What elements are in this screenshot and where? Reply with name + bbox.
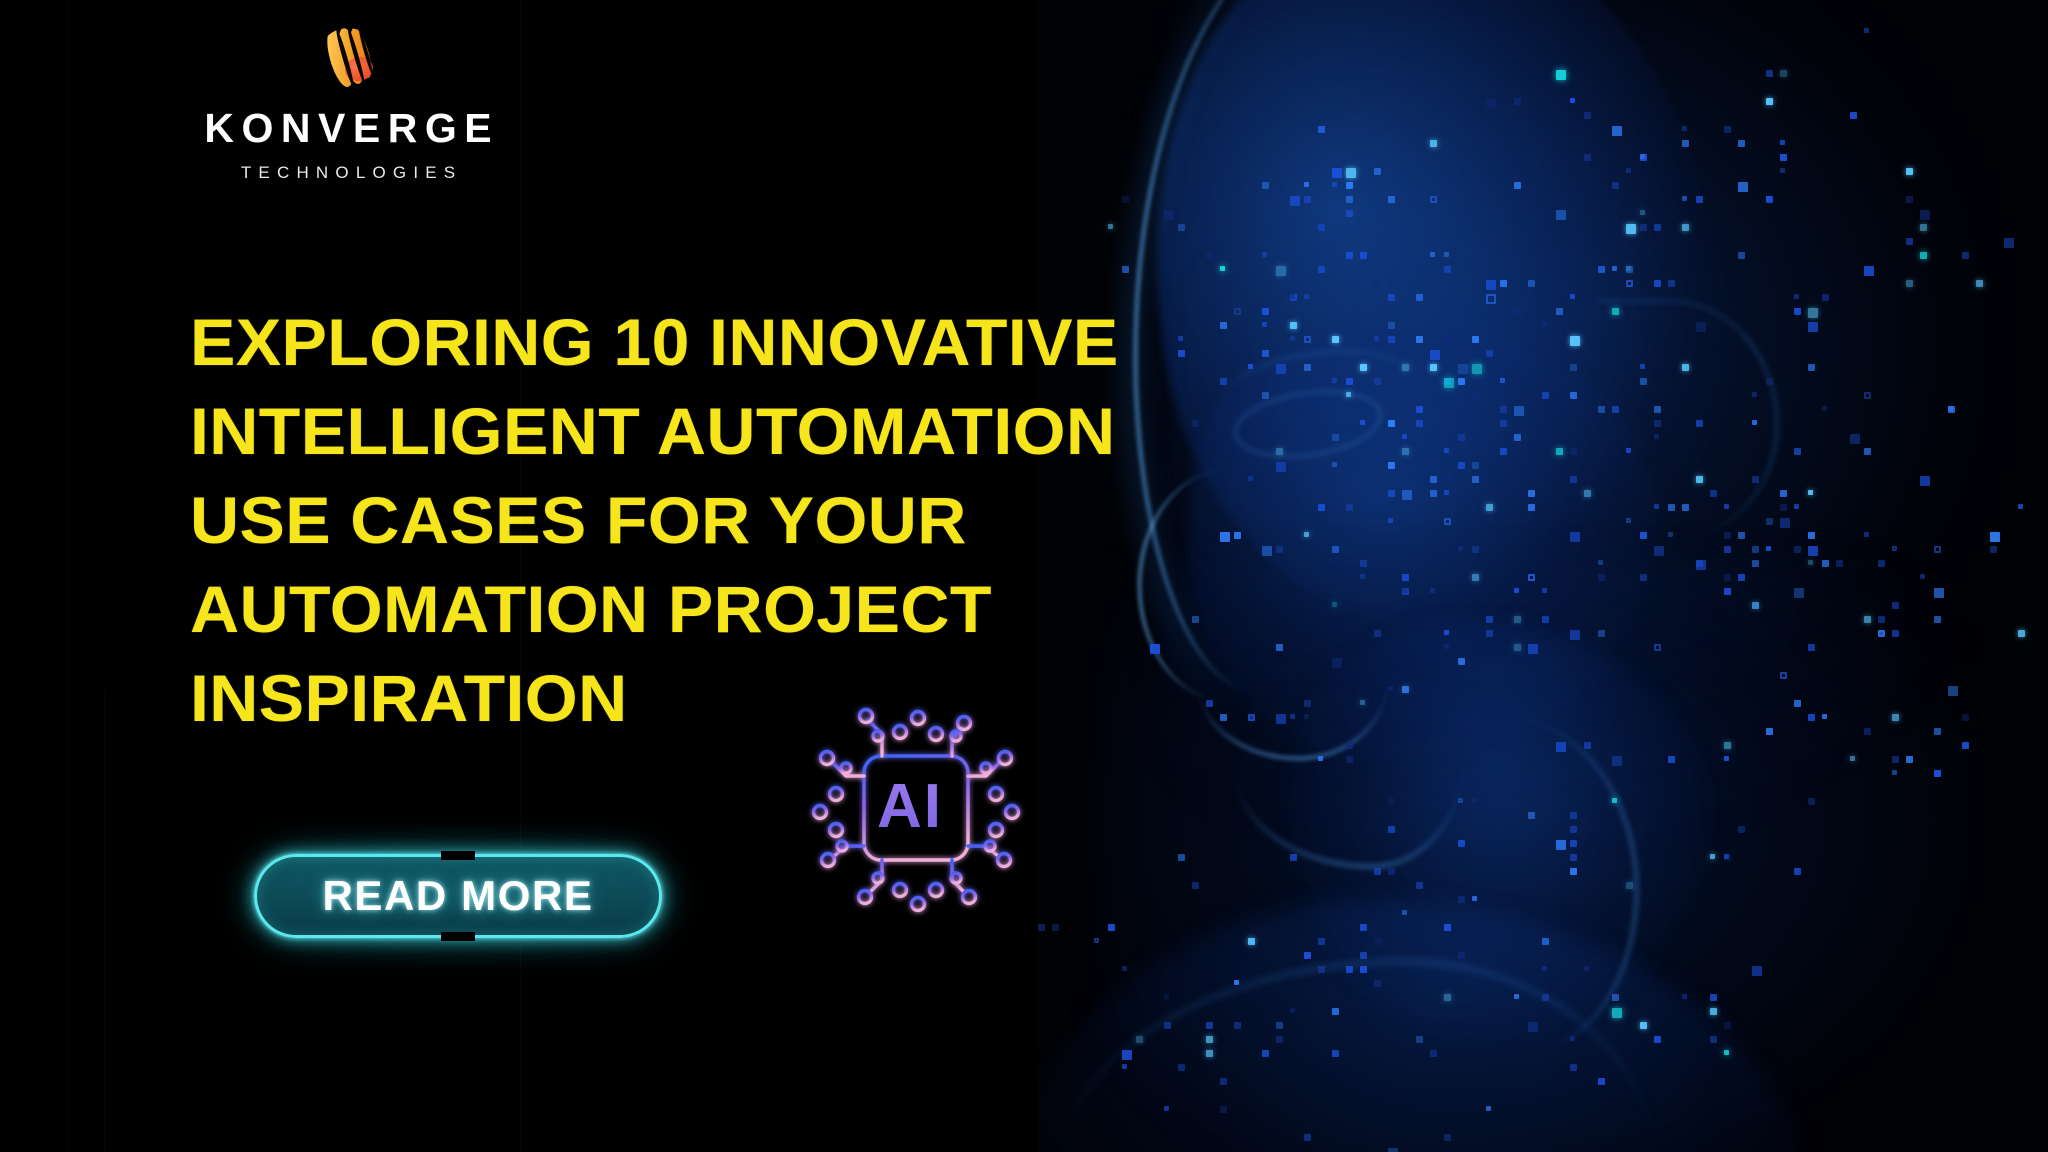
pixel-dot — [1570, 854, 1577, 861]
pixel-dot — [1640, 224, 1647, 231]
pixel-dot — [1528, 812, 1535, 819]
pixel-dot — [1178, 854, 1185, 861]
pixel-dot — [1052, 924, 1059, 931]
pixel-dot — [1542, 966, 1547, 971]
pixel-dot — [1892, 602, 1899, 609]
pixel-dot — [1430, 252, 1435, 257]
pixel-dot — [1724, 588, 1731, 595]
pixel-dot — [1514, 182, 1521, 189]
pixel-dot — [1444, 518, 1451, 525]
pixel-dot — [1780, 518, 1790, 528]
headline-line-5: INSPIRATION — [190, 654, 1302, 743]
pixel-dot — [1780, 140, 1785, 145]
pixel-dot — [1206, 1050, 1213, 1057]
pixel-dot — [1332, 1050, 1339, 1057]
pixel-dot — [1864, 532, 1869, 537]
pixel-dot — [1696, 322, 1706, 332]
pixel-dot — [1178, 224, 1185, 231]
pixel-dot — [1752, 476, 1759, 483]
pixel-dot — [1402, 686, 1409, 693]
pixel-dot — [1374, 336, 1379, 341]
neon-tube-gap-top — [441, 851, 475, 860]
pixel-dot — [1486, 504, 1493, 511]
pixel-dot — [1654, 1036, 1661, 1043]
pixel-dot — [1374, 868, 1381, 875]
pixel-dot — [1346, 742, 1353, 749]
pixel-dot — [1472, 574, 1479, 581]
pixel-dot — [1920, 476, 1930, 486]
pixel-dot — [1808, 490, 1813, 495]
pixel-dot — [1430, 140, 1437, 147]
pixel-dot — [1360, 700, 1365, 705]
panel-seam-lower — [104, 690, 105, 1152]
pixel-dot — [1402, 434, 1407, 439]
pixel-dot — [1122, 196, 1129, 203]
pixel-dot — [1654, 280, 1661, 287]
pixel-dot — [1738, 140, 1745, 147]
pixel-dot — [1514, 98, 1521, 105]
pixel-dot — [1444, 476, 1451, 483]
pixel-dot — [1444, 644, 1449, 649]
pixel-dot — [1346, 210, 1353, 217]
pixel-dot — [1318, 126, 1325, 133]
pixel-dot — [1906, 238, 1913, 245]
pixel-dot — [1486, 98, 1496, 108]
pixel-dot — [1304, 364, 1311, 371]
pixel-dot — [1206, 252, 1213, 259]
pixel-dot — [1444, 266, 1451, 273]
ai-chip-icon: AI — [790, 690, 1030, 930]
pixel-dot — [1192, 882, 1199, 889]
pixel-dot — [1318, 756, 1323, 761]
pixel-dot — [1640, 364, 1645, 369]
pixel-dot — [1584, 966, 1589, 971]
pixel-dot — [1878, 630, 1885, 637]
pixel-dot — [1402, 574, 1409, 581]
pixel-dot — [1416, 294, 1423, 301]
pixel-dot — [1500, 280, 1507, 287]
pixel-dot — [1654, 644, 1661, 651]
pixel-dot — [1528, 1022, 1538, 1032]
pixel-dot — [1766, 546, 1771, 551]
pixel-dot — [1290, 196, 1300, 206]
pixel-dot — [1360, 420, 1365, 425]
pixel-dot — [1598, 266, 1603, 271]
pixel-dot — [1430, 364, 1437, 371]
pixel-dot — [1752, 546, 1759, 553]
pixel-dot — [1528, 504, 1535, 511]
pixel-dot — [1444, 490, 1449, 495]
pixel-dot — [1332, 336, 1339, 343]
pixel-dot — [1486, 350, 1493, 357]
pixel-dot — [1276, 1036, 1283, 1043]
pixel-dot — [1430, 1050, 1437, 1057]
pixel-dot — [1696, 420, 1703, 427]
pixel-dot — [1570, 448, 1577, 455]
pixel-dot — [1724, 546, 1731, 553]
pixel-dot — [1794, 294, 1799, 299]
brand-logo[interactable]: KONVERGE TECHNOLOGIES — [148, 22, 548, 181]
pixel-dot — [1710, 490, 1717, 497]
pixel-dot — [1822, 714, 1827, 719]
pixel-dot — [1486, 1106, 1491, 1111]
pixel-dot — [1738, 182, 1748, 192]
pixel-dot — [1864, 28, 1869, 33]
pixel-dot — [1780, 154, 1787, 161]
pixel-dot — [1374, 630, 1381, 637]
pixel-dot — [1598, 630, 1605, 637]
pixel-dot — [1374, 980, 1381, 987]
pixel-dot — [2004, 238, 2014, 248]
pixel-dot — [1892, 546, 1897, 551]
pixel-dot — [1304, 532, 1309, 537]
pixel-dot — [1374, 280, 1381, 287]
pixel-dot — [1808, 714, 1815, 721]
pixel-dot — [1682, 196, 1687, 201]
pixel-dot — [1458, 840, 1465, 847]
pixel-dot — [1794, 868, 1801, 875]
pixel-dot — [1416, 336, 1423, 343]
pixel-dot — [1584, 154, 1591, 161]
pixel-dot — [1934, 728, 1941, 735]
pixel-dot — [1850, 434, 1860, 444]
pixel-dot — [1122, 266, 1129, 273]
pixel-dot — [1948, 406, 1955, 413]
pixel-dot — [1556, 308, 1563, 315]
pixel-dot — [1262, 1050, 1269, 1057]
pixel-dot — [1388, 322, 1395, 329]
pixel-dot — [1626, 266, 1633, 273]
pixel-dot — [1486, 294, 1496, 304]
brand-name: KONVERGE — [148, 108, 548, 149]
pixel-dot — [1332, 378, 1337, 383]
pixel-dot — [1822, 560, 1829, 567]
pixel-dot — [1948, 686, 1958, 696]
pixel-dot — [1486, 630, 1493, 637]
pixel-dot — [1892, 756, 1899, 763]
pixel-dot — [1094, 938, 1099, 943]
pixel-dot — [1276, 1022, 1283, 1029]
pixel-dot — [1864, 616, 1871, 623]
pixel-dot — [1514, 644, 1521, 651]
pixel-dot — [1318, 504, 1325, 511]
pixel-dot — [1234, 1022, 1241, 1029]
pixel-dot — [1584, 490, 1591, 497]
pixel-dot — [1612, 994, 1619, 1001]
pixel-dot — [1388, 196, 1395, 203]
pixel-dot — [1766, 98, 1773, 105]
pixel-dot — [1542, 938, 1549, 945]
pixel-dot — [1528, 574, 1535, 581]
pixel-dot — [1710, 1008, 1717, 1015]
pixel-dot — [1640, 378, 1647, 385]
pixel-dot — [1682, 224, 1689, 231]
pixel-dot — [1304, 294, 1309, 299]
pixel-dot — [1710, 854, 1715, 859]
pixel-dot — [1388, 518, 1393, 523]
pixel-dot — [1430, 350, 1440, 360]
pixel-dot — [1738, 532, 1745, 539]
pixel-dot — [1598, 560, 1603, 565]
pixel-dot — [1346, 168, 1356, 178]
pixel-dot — [1122, 1050, 1132, 1060]
pixel-dot — [1444, 924, 1451, 931]
pixel-dot — [1388, 1148, 1398, 1152]
pixel-dot — [1542, 994, 1549, 1001]
pixel-dot — [1822, 294, 1829, 301]
pixel-dot — [1612, 182, 1619, 189]
pixel-dot — [1668, 756, 1675, 763]
pixel-dot — [1808, 308, 1818, 318]
pixel-dot — [1626, 448, 1631, 453]
pixel-dot — [1640, 210, 1645, 215]
pixel-dot — [1542, 588, 1547, 593]
pixel-dot — [1388, 336, 1395, 343]
pixel-dot — [1164, 210, 1174, 220]
pixel-dot — [1738, 252, 1745, 259]
pixel-dot — [1164, 1106, 1169, 1111]
pixel-dot — [1108, 224, 1113, 229]
pixel-dot — [1038, 924, 1045, 931]
pixel-dot — [1976, 280, 1983, 287]
pixel-dot — [1766, 196, 1771, 201]
pixel-dot — [1374, 938, 1381, 945]
pixel-dot — [1234, 980, 1239, 985]
pixel-dot — [1346, 196, 1353, 203]
pixel-dot — [1626, 882, 1633, 889]
pixel-dot — [1962, 742, 1969, 749]
pixel-dot — [1360, 952, 1367, 959]
pixel-dot — [1570, 392, 1577, 399]
pixel-dot — [1304, 336, 1311, 343]
pixel-dot — [1514, 994, 1519, 999]
pixel-dot — [1220, 1078, 1227, 1085]
pixel-dot — [1220, 1106, 1227, 1113]
pixel-dot — [1794, 546, 1801, 553]
pixel-dot — [1710, 1036, 1717, 1043]
pixel-dot — [1430, 476, 1437, 483]
pixel-dot — [1766, 728, 1773, 735]
pixel-dot — [1360, 574, 1365, 579]
pixel-dot — [1542, 616, 1549, 623]
headline-line-1: EXPLORING 10 INNOVATIVE — [190, 298, 1302, 387]
pixel-dot — [1654, 504, 1659, 509]
read-more-button-wrap: READ MORE — [228, 832, 688, 960]
pixel-dot — [1794, 700, 1801, 707]
pixel-dot — [1472, 798, 1477, 803]
pixel-dot — [1304, 1134, 1311, 1141]
pixel-dot — [1738, 574, 1745, 581]
panel-seam-left — [68, 0, 69, 1152]
read-more-label: READ MORE — [322, 872, 593, 920]
pixel-dot — [1346, 182, 1353, 189]
pixel-dot — [1640, 574, 1647, 581]
pixel-dot — [1388, 490, 1395, 497]
pixel-dot — [1780, 504, 1787, 511]
pixel-dot — [1318, 966, 1325, 973]
pixel-dot — [1934, 616, 1941, 623]
pixel-dot — [1934, 588, 1944, 598]
pixel-dot — [1360, 364, 1367, 371]
pixel-dot — [1542, 392, 1549, 399]
pixel-dot — [1934, 770, 1941, 777]
pixel-dot — [1990, 546, 1997, 553]
pixel-dot — [1752, 602, 1759, 609]
pixel-dot — [1794, 588, 1804, 598]
pixel-dot — [1500, 420, 1507, 427]
pixel-dot — [1388, 462, 1395, 469]
pixel-dot — [1892, 714, 1899, 721]
pixel-dot — [1318, 938, 1325, 945]
pixel-dot — [1724, 1050, 1729, 1055]
pixel-dot — [1556, 742, 1566, 752]
pixel-dot — [1388, 686, 1393, 691]
pixel-dot — [1682, 126, 1687, 131]
pixel-dot — [1808, 644, 1815, 651]
headline-line-3: USE CASES FOR YOUR — [190, 476, 1302, 565]
pixel-dot — [1472, 546, 1479, 553]
pixel-dot — [1304, 196, 1311, 203]
pixel-dot — [1472, 336, 1479, 343]
pixel-dot — [1290, 1008, 1295, 1013]
pixel-dot — [1570, 1036, 1575, 1041]
pixel-dot — [1682, 364, 1689, 371]
pixel-dot — [1612, 798, 1617, 803]
pixel-dot — [1892, 630, 1899, 637]
pixel-dot — [1500, 378, 1505, 383]
pixel-dot — [1556, 70, 1566, 80]
pixel-dot — [1402, 910, 1407, 915]
pixel-dot — [1500, 406, 1507, 413]
pixel-dot — [1584, 742, 1591, 749]
pixel-dot — [1136, 1036, 1143, 1043]
pixel-dot — [1360, 560, 1367, 567]
pixel-dot — [1304, 714, 1309, 719]
pixel-dot — [1332, 658, 1342, 668]
pixel-dot — [1458, 378, 1465, 385]
pixel-dot — [1696, 196, 1703, 203]
pixel-dot — [1850, 112, 1857, 119]
pixel-dot — [1108, 924, 1115, 931]
pixel-dot — [1570, 812, 1577, 819]
pixel-dot — [1304, 952, 1311, 959]
pixel-dot — [1514, 588, 1519, 593]
pixel-dot — [1850, 756, 1855, 761]
pixel-dot — [1430, 588, 1435, 593]
pixel-dot — [1822, 406, 1827, 411]
pixel-dot — [1262, 252, 1267, 257]
pixel-dot — [1444, 630, 1449, 635]
pixel-dot — [1374, 378, 1381, 385]
pixel-dot — [1724, 574, 1731, 581]
pixel-dot — [1458, 462, 1465, 469]
pixel-dot — [1668, 280, 1675, 287]
pixel-dot — [1612, 126, 1622, 136]
pixel-dot — [1612, 308, 1619, 315]
pixel-dot — [1472, 392, 1479, 399]
pixel-dot — [1458, 896, 1465, 903]
pixel-dot — [1724, 756, 1729, 761]
pixel-dot — [1570, 98, 1575, 103]
pixel-dot — [1808, 322, 1818, 332]
pixel-dot — [1570, 1064, 1577, 1071]
pixel-dot — [1570, 868, 1577, 875]
pixel-dot — [1528, 280, 1535, 287]
pixel-dot — [1808, 560, 1813, 565]
read-more-button[interactable]: READ MORE — [254, 854, 662, 938]
pixel-dot — [1318, 224, 1325, 231]
pixel-dot — [1724, 504, 1729, 509]
pixel-dot — [1220, 266, 1225, 271]
pixel-dot — [1402, 490, 1412, 500]
pixel-dot — [1612, 1008, 1622, 1018]
pixel-dot — [1808, 798, 1815, 805]
pixel-dot — [1724, 742, 1731, 749]
pixel-dot — [1430, 490, 1437, 497]
pixel-dot — [1332, 182, 1337, 187]
pixel-dot — [1626, 518, 1631, 523]
pixel-dot — [1780, 168, 1785, 173]
pixel-dot — [1276, 266, 1286, 276]
pixel-dot — [1612, 756, 1622, 766]
pixel-dot — [1458, 546, 1463, 551]
pixel-dot — [1472, 462, 1479, 469]
pixel-dot — [1668, 504, 1675, 511]
pixel-dot — [1794, 308, 1801, 315]
pixel-dot — [1780, 70, 1787, 77]
pixel-dot — [1612, 266, 1617, 271]
pixel-dot — [1682, 504, 1689, 511]
pixel-dot — [1654, 406, 1661, 413]
pixel-dot — [1598, 1078, 1605, 1085]
pixel-dot — [1556, 448, 1563, 455]
pixel-dot — [1346, 966, 1353, 973]
pixel-dot — [1878, 616, 1885, 623]
pixel-dot — [1570, 840, 1577, 847]
pixel-dot — [1696, 560, 1703, 567]
pixel-dot — [1808, 546, 1818, 556]
pixel-dot — [1668, 532, 1673, 537]
pixel-dot — [1556, 210, 1566, 220]
pixel-dot — [1388, 868, 1395, 875]
pixel-dot — [1458, 658, 1465, 665]
pixel-dot — [1766, 70, 1773, 77]
pixel-dot — [1626, 224, 1636, 234]
pixel-dot — [1164, 994, 1169, 999]
pixel-dot — [1766, 518, 1773, 525]
pixel-dot — [1444, 336, 1451, 343]
pixel-dot — [1864, 448, 1871, 455]
pixel-dot — [1752, 420, 1757, 425]
pixel-dot — [1654, 224, 1661, 231]
pixel-dot — [1752, 560, 1759, 567]
pixel-dot — [1612, 406, 1619, 413]
pixel-dot — [1654, 546, 1664, 556]
pixel-dot — [1906, 756, 1913, 763]
pixel-dot — [1570, 364, 1577, 371]
pixel-dot — [1570, 336, 1580, 346]
pixel-dot — [1346, 504, 1353, 511]
pixel-dot — [1388, 798, 1395, 805]
headline: EXPLORING 10 INNOVATIVE INTELLIGENT AUTO… — [190, 298, 1270, 743]
pixel-dot — [1458, 434, 1465, 441]
pixel-dot — [1472, 364, 1482, 374]
pixel-dot — [1598, 574, 1605, 581]
pixel-dot — [1738, 826, 1745, 833]
pixel-dot — [1486, 280, 1496, 290]
pixel-dot — [1122, 966, 1127, 971]
pixel-dot — [1262, 182, 1269, 189]
